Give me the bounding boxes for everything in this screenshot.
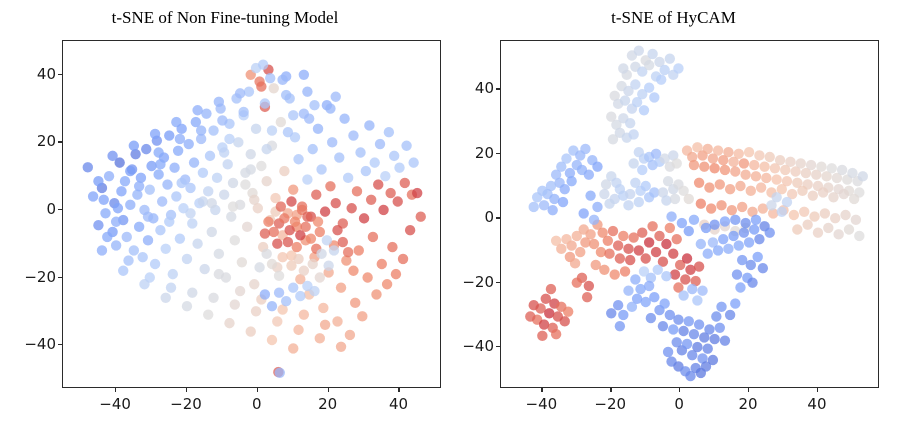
scatter-point: [230, 235, 240, 245]
scatter-point: [272, 316, 282, 326]
scatter-point: [725, 184, 735, 194]
scatter-point: [261, 144, 271, 154]
scatter-point: [839, 189, 849, 199]
scatter-point: [678, 326, 688, 336]
scatter-point: [703, 344, 713, 354]
scatter-point: [224, 134, 234, 144]
scatter-point: [654, 231, 664, 241]
scatter-point: [618, 310, 628, 320]
scatter-point: [150, 129, 160, 139]
scatter-point: [618, 63, 628, 73]
scatter-point: [670, 269, 680, 279]
y-tick-label: −20: [458, 273, 494, 291]
scatter-point: [625, 189, 635, 199]
scatter-point: [623, 200, 633, 210]
scatter-point: [718, 234, 728, 244]
x-tick-mark: [610, 388, 611, 392]
x-tick-mark: [186, 388, 187, 392]
x-tick-mark: [398, 388, 399, 392]
scatter-point: [641, 181, 651, 191]
scatter-point: [355, 147, 365, 157]
scatter-point: [249, 279, 259, 289]
scatter-point: [672, 234, 682, 244]
scatter-point: [740, 218, 750, 228]
scatter-point: [623, 244, 633, 254]
scatter-point: [751, 171, 761, 181]
scatter-point: [267, 301, 277, 311]
scatter-point: [111, 217, 121, 227]
scatter-point: [354, 245, 364, 255]
scatter-point: [744, 147, 754, 157]
axes-left: [62, 40, 441, 388]
scatter-point: [628, 129, 638, 139]
scatter-point: [746, 186, 756, 196]
x-tick-label: 20: [318, 395, 337, 413]
scatter-point: [641, 253, 651, 263]
scatter-point: [692, 342, 702, 352]
scatter-point: [720, 335, 730, 345]
scatter-point: [806, 160, 816, 170]
scatter-point: [166, 282, 176, 292]
scatter-point: [299, 70, 309, 80]
scatter-point: [734, 240, 744, 250]
scatter-point: [580, 237, 590, 247]
scatter-point: [596, 247, 606, 257]
scatter-point: [739, 228, 749, 238]
scatter-point: [680, 274, 690, 284]
scatter-point: [313, 124, 323, 134]
scatter-point: [134, 222, 144, 232]
scatter-point: [275, 368, 285, 378]
scatter-point: [274, 288, 284, 298]
scatter-point: [716, 200, 726, 210]
scatter-point: [589, 239, 599, 249]
scatter-point: [725, 310, 735, 320]
scatter-point: [820, 208, 830, 218]
scatter-point: [646, 313, 656, 323]
scatter-point: [809, 211, 819, 221]
scatter-point: [771, 174, 781, 184]
scatter-point: [391, 269, 401, 279]
scatter-point: [735, 282, 745, 292]
scatter-point: [205, 151, 215, 161]
scatter-point: [647, 221, 657, 231]
scatter-point: [696, 239, 706, 249]
scatter-point: [263, 217, 273, 227]
scatter-point: [276, 201, 286, 211]
scatter-point: [308, 259, 318, 269]
scatter-point: [730, 166, 740, 176]
scatter-point: [368, 232, 378, 242]
scatter-point: [823, 223, 833, 233]
x-tick-mark: [679, 388, 680, 392]
scatter-point: [644, 237, 654, 247]
scatter-point: [385, 188, 395, 198]
scatter-point: [125, 166, 135, 176]
scatter-point: [357, 311, 367, 321]
scatter-point: [668, 324, 678, 334]
scatter-point: [572, 277, 582, 287]
scatter-point: [673, 63, 683, 73]
scatter-point: [173, 146, 183, 156]
y-tick-label: −40: [20, 335, 56, 353]
scatter-point: [701, 361, 711, 371]
scatter-point: [668, 248, 678, 258]
scatter-point: [620, 95, 630, 105]
scatter-point: [858, 171, 868, 181]
scatter-point: [608, 134, 618, 144]
scatter-point: [677, 218, 687, 228]
scatter-point: [634, 45, 644, 55]
scatter-point: [744, 237, 754, 247]
scatter-point: [672, 158, 682, 168]
scatter-point: [339, 114, 349, 124]
scatter-point: [315, 333, 325, 343]
scatter-point: [325, 181, 335, 191]
scatter-point: [343, 247, 353, 257]
y-tick-mark: [496, 346, 500, 347]
scatter-point: [412, 188, 422, 198]
scatter-point: [735, 181, 745, 191]
scatter-point: [113, 203, 123, 213]
scatter-point: [606, 308, 616, 318]
scatter-point: [246, 326, 256, 336]
scatter-point: [637, 165, 647, 175]
scatter-point: [661, 195, 671, 205]
scatter-point: [371, 289, 381, 299]
scatter-point: [345, 330, 355, 340]
scatter-point: [709, 219, 719, 229]
scatter-point: [749, 160, 759, 170]
scatter-point: [267, 259, 277, 269]
scatter-point: [589, 215, 599, 225]
y-tick-label: 40: [458, 79, 494, 97]
scatter-point: [689, 160, 699, 170]
scatter-point: [315, 227, 325, 237]
scatter-point: [625, 255, 635, 265]
scatter-point: [378, 205, 388, 215]
scatter-point: [658, 321, 668, 331]
scatter-point: [670, 194, 680, 204]
scatter-point: [560, 316, 570, 326]
scatter-point: [694, 261, 704, 271]
scatter-point: [199, 264, 209, 274]
scatter-point: [697, 286, 707, 296]
scatter-point: [604, 199, 614, 209]
scatter-point: [336, 282, 346, 292]
scatter-point: [359, 213, 369, 223]
scatter-point: [525, 311, 535, 321]
scatter-point: [329, 245, 339, 255]
scatter-point: [713, 145, 723, 155]
scatter-point: [739, 158, 749, 168]
scatter-point: [295, 291, 305, 301]
scatter-point: [304, 114, 314, 124]
scatter-point: [765, 152, 775, 162]
scatter-point: [226, 211, 236, 221]
scatter-point: [175, 233, 185, 243]
scatter-point: [261, 176, 271, 186]
scatter-point: [169, 163, 179, 173]
scatter-point: [182, 301, 192, 311]
scatter-point: [585, 190, 595, 200]
scatter-point: [678, 290, 688, 300]
x-tick-label: −40: [99, 395, 131, 413]
scatter-point: [665, 54, 675, 64]
scatter-point: [125, 200, 135, 210]
scatter-point: [228, 201, 238, 211]
scatter-point: [830, 213, 840, 223]
scatter-point: [653, 265, 663, 275]
scatter-point: [370, 157, 380, 167]
scatter-point: [706, 203, 716, 213]
y-tick-label: 20: [20, 132, 56, 150]
scatter-point: [837, 165, 847, 175]
scatter-point: [394, 163, 404, 173]
scatter-point: [651, 247, 661, 257]
scatter-point: [684, 316, 694, 326]
y-tick-label: 20: [458, 144, 494, 162]
scatter-point: [265, 73, 275, 83]
scatter-point: [591, 260, 601, 270]
scatter-point: [684, 226, 694, 236]
scatter-point: [260, 289, 270, 299]
scatter-point: [699, 161, 709, 171]
scatter-point: [83, 162, 93, 172]
scatter-point: [625, 118, 635, 128]
scatter-point: [566, 176, 576, 186]
scatter-point: [813, 228, 823, 238]
scatter-point: [746, 260, 756, 270]
scatter-point: [560, 184, 570, 194]
scatter-point: [219, 190, 229, 200]
scatter-point: [300, 222, 310, 232]
scatter-point: [322, 235, 332, 245]
scatter-point: [217, 115, 227, 125]
scatter-point: [283, 127, 293, 137]
scatter-point: [185, 183, 195, 193]
y-tick-mark: [496, 153, 500, 154]
scatter-point: [759, 161, 769, 171]
scatter-point: [316, 249, 326, 259]
scatter-point: [366, 195, 376, 205]
scatter-point: [687, 284, 697, 294]
scatter-point: [290, 217, 300, 227]
scatter-point: [375, 139, 385, 149]
scatter-point: [260, 98, 270, 108]
y-tick-mark: [58, 277, 62, 278]
scatter-point: [849, 194, 859, 204]
scatter-point: [240, 179, 250, 189]
scatter-point: [279, 166, 289, 176]
scatter-point: [840, 210, 850, 220]
scatter-point: [703, 144, 713, 154]
scatter-point: [529, 202, 539, 212]
scatter-point: [563, 306, 573, 316]
scatter-point: [155, 159, 165, 169]
scatter-point: [547, 205, 557, 215]
scatter-point: [584, 281, 594, 291]
scatter-point: [747, 277, 757, 287]
scatter-point: [601, 179, 611, 189]
scatter-point: [279, 213, 289, 223]
scatter-point: [362, 272, 372, 282]
scatter-point: [685, 371, 695, 381]
scatter-point: [316, 164, 326, 174]
scatter-point: [164, 217, 174, 227]
scatter-point: [389, 151, 399, 161]
scatter-point: [580, 144, 590, 154]
scatter-point: [254, 262, 264, 272]
scatter-point: [665, 223, 675, 233]
scatter-point: [661, 271, 671, 281]
scatter-point: [637, 228, 647, 238]
scatter-point: [214, 97, 224, 107]
scatter-point: [311, 190, 321, 200]
scatter-point: [269, 83, 279, 93]
scatter-point: [175, 134, 185, 144]
scatter-point: [537, 331, 547, 341]
scatter-point: [116, 186, 126, 196]
scatter-point: [235, 88, 245, 98]
scatter-point: [730, 298, 740, 308]
scatter-point: [192, 105, 202, 115]
scatter-point: [782, 197, 792, 207]
scatter-point: [336, 342, 346, 352]
scatter-point: [331, 198, 341, 208]
scatter-point: [673, 315, 683, 325]
scatter-point: [201, 108, 211, 118]
scatter-point: [102, 232, 112, 242]
scatter-point: [844, 224, 854, 234]
scatter-point: [302, 211, 312, 221]
scatter-point: [168, 269, 178, 279]
scatter-point: [551, 329, 561, 339]
scatter-point: [802, 219, 812, 229]
scatter-point: [575, 247, 585, 257]
scatter-point: [692, 295, 702, 305]
scatter-point: [792, 224, 802, 234]
scatter-point: [129, 141, 139, 151]
scatter-point: [361, 166, 371, 176]
scatter-point: [785, 157, 795, 167]
scatter-point: [138, 252, 148, 262]
scatter-point: [185, 208, 195, 218]
scatter-point: [143, 211, 153, 221]
scatter-point: [398, 254, 408, 264]
y-tick-label: −40: [458, 337, 494, 355]
scatter-point: [561, 234, 571, 244]
scatter-point: [207, 198, 217, 208]
scatter-point: [88, 191, 98, 201]
scatter-point: [261, 249, 271, 259]
scatter-point: [219, 147, 229, 157]
scatter-point: [751, 215, 761, 225]
scatter-point: [171, 117, 181, 127]
scatter-point: [618, 231, 628, 241]
x-tick-mark: [328, 388, 329, 392]
scatter-point: [334, 152, 344, 162]
scatter-point: [696, 199, 706, 209]
scatter-point: [302, 281, 312, 291]
x-tick-label: 20: [739, 395, 758, 413]
tsne-figure: t-SNE of Non Fine-tuning Model −40−20020…: [0, 0, 897, 448]
scatter-point: [286, 196, 296, 206]
panel-left: t-SNE of Non Fine-tuning Model −40−20020…: [0, 0, 450, 448]
scatter-point: [313, 217, 323, 227]
scatter-point: [703, 248, 713, 258]
panel-right: t-SNE of HyCAM −40−2002040−40−2002040: [450, 0, 897, 448]
y-tick-mark: [496, 217, 500, 218]
scatter-point: [327, 137, 337, 147]
scatter-point: [143, 235, 153, 245]
scatter-point: [348, 266, 358, 276]
scatter-point: [323, 260, 333, 270]
scatter-point: [352, 186, 362, 196]
scatter-point: [233, 137, 243, 147]
scatter-point: [309, 100, 319, 110]
scatter-point: [288, 184, 298, 194]
scatter-point: [224, 318, 234, 328]
scatter-point: [644, 83, 654, 93]
scatter-point: [639, 266, 649, 276]
scatter-point: [293, 154, 303, 164]
scatter-point: [610, 269, 620, 279]
scatter-point: [288, 110, 298, 120]
scatter-point: [613, 300, 623, 310]
y-tick-label: 40: [20, 65, 56, 83]
scatter-point: [246, 149, 256, 159]
scatter-point: [246, 164, 256, 174]
scatter-point: [315, 272, 325, 282]
scatter-point: [387, 242, 397, 252]
scatter-point: [380, 171, 390, 181]
scatter-point: [139, 279, 149, 289]
scatter-point: [623, 286, 633, 296]
x-tick-label: −40: [526, 395, 558, 413]
scatter-point: [634, 245, 644, 255]
scatter-point: [346, 203, 356, 213]
scatter-point: [331, 92, 341, 102]
scatter-point: [720, 165, 730, 175]
scatter-point: [302, 174, 312, 184]
scatter-point: [613, 240, 623, 250]
scatter-point: [187, 288, 197, 298]
y-tick-mark: [496, 88, 500, 89]
y-tick-label: 0: [20, 200, 56, 218]
x-tick-mark: [257, 388, 258, 392]
y-tick-mark: [58, 74, 62, 75]
scatter-point: [713, 245, 723, 255]
x-tick-mark: [115, 388, 116, 392]
scatter-point: [766, 200, 776, 210]
scatter-point: [694, 319, 704, 329]
scatter-point: [632, 97, 642, 107]
scatter-point: [704, 182, 714, 192]
scatter-point: [208, 125, 218, 135]
scatter-point: [382, 279, 392, 289]
scatter-point: [627, 302, 637, 312]
scatter-point: [100, 208, 110, 218]
panel-right-title: t-SNE of HyCAM: [450, 8, 897, 28]
scatter-point: [134, 181, 144, 191]
scatter-point: [797, 186, 807, 196]
scatter-point: [269, 227, 279, 237]
scatter-point: [338, 237, 348, 247]
scatter-point: [145, 184, 155, 194]
scatter-point: [761, 173, 771, 183]
scatter-point: [592, 161, 602, 171]
